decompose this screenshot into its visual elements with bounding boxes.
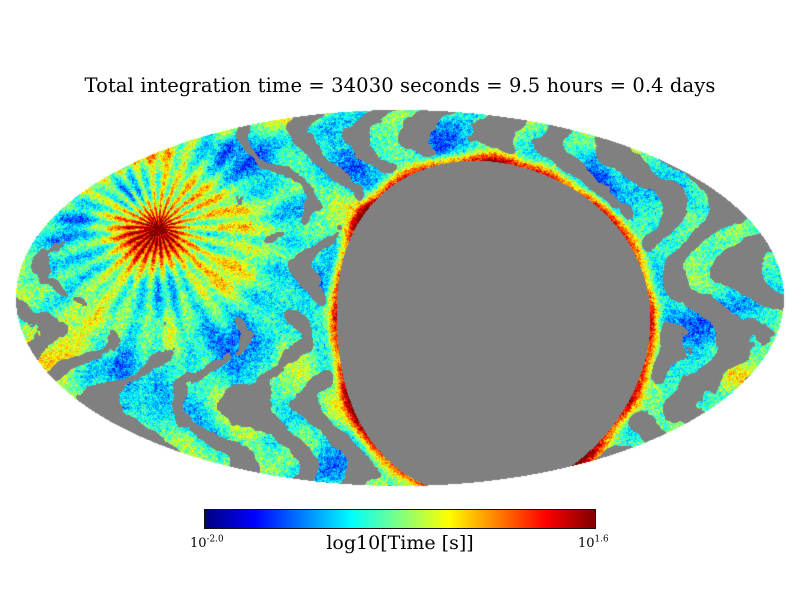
colorbar: 10-2.0 log10[Time [s]] 101.6 [0, 500, 800, 570]
colorbar-max-base: 10 [578, 536, 595, 551]
mollweide-sky-map [0, 100, 800, 500]
colorbar-max-tick: 101.6 [578, 536, 609, 551]
page-title: Total integration time = 34030 seconds =… [0, 74, 800, 97]
colorbar-gradient-canvas [205, 510, 595, 528]
sky-map-figure: Total integration time = 34030 seconds =… [0, 0, 800, 600]
colorbar-gradient [204, 509, 596, 529]
colorbar-axis-label: log10[Time [s]] [0, 532, 800, 554]
colorbar-max-exponent: 1.6 [595, 535, 609, 545]
sky-map-panel [0, 100, 800, 500]
